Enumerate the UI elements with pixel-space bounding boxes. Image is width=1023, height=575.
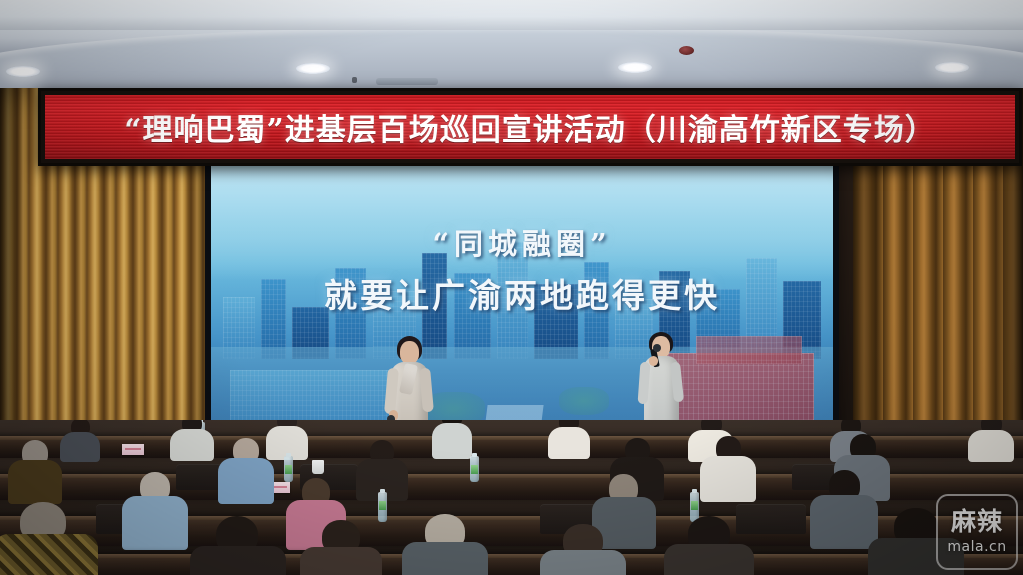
audience-body — [548, 427, 590, 459]
audience-member — [402, 514, 488, 575]
audience-member — [60, 420, 100, 460]
audience-body — [664, 544, 754, 575]
projection-screen-frame: “同城融圈” 就要让广渝两地跑得更快 会议通知001.doc 宣讲材料.pptx… — [205, 158, 839, 445]
audience-body — [402, 542, 488, 575]
audience-body — [122, 496, 188, 550]
audience-member — [0, 502, 98, 575]
audience-body — [432, 423, 472, 459]
led-banner-panel: “理响巴蜀”进基层百场巡回宣讲活动（川渝高竹新区专场） — [45, 95, 1015, 159]
audience-member — [122, 472, 188, 546]
audience-body — [868, 538, 964, 575]
downlight-icon — [935, 62, 969, 73]
ceiling-front-lip — [0, 0, 1023, 30]
banner-title: “理响巴蜀”进基层百场巡回宣讲活动（川渝高竹新区专场） — [124, 105, 936, 149]
downlight-icon — [6, 66, 40, 77]
audience-body — [170, 429, 214, 461]
audience-body — [190, 546, 286, 575]
audience-member — [190, 516, 286, 575]
projection-screen: “同城融圈” 就要让广渝两地跑得更快 会议通知001.doc 宣讲材料.pptx… — [211, 162, 833, 443]
audience-member — [548, 420, 590, 458]
audience-body — [968, 430, 1014, 462]
audience-body — [700, 456, 756, 502]
downlight-icon — [296, 63, 330, 74]
slide-red-building — [696, 336, 802, 364]
audience-member — [432, 420, 472, 458]
audience-body — [300, 547, 382, 575]
audience-member — [664, 516, 754, 575]
screenshot-root: “同城融圈” 就要让广渝两地跑得更快 会议通知001.doc 宣讲材料.pptx… — [0, 0, 1023, 575]
audience-member — [300, 520, 382, 575]
name-card — [122, 444, 144, 455]
audience-body — [60, 432, 100, 462]
audience-body — [218, 458, 274, 504]
audience-body — [8, 460, 62, 504]
presenter-hand — [649, 356, 658, 366]
audience-member — [968, 420, 1014, 460]
audience-body — [0, 534, 98, 575]
audience-member — [540, 524, 626, 575]
downlight-icon — [618, 62, 652, 73]
audience-member — [8, 440, 62, 500]
water-bottle — [378, 492, 387, 522]
presenter-head — [400, 341, 419, 364]
audience-area — [0, 420, 1023, 575]
paper-cup — [312, 460, 324, 474]
microphone-head-icon — [653, 344, 661, 352]
audience-member — [218, 438, 274, 500]
ac-vent — [376, 78, 438, 85]
led-banner: “理响巴蜀”进基层百场巡回宣讲活动（川渝高竹新区专场） — [38, 88, 1022, 166]
slide-green-area — [559, 387, 609, 415]
water-bottle — [470, 456, 479, 482]
audience-body — [540, 550, 626, 575]
audience-member — [700, 436, 756, 498]
smoke-detector-icon — [679, 46, 694, 55]
ceiling — [0, 0, 1023, 95]
sprinkler-icon — [352, 77, 357, 83]
audience-member — [868, 508, 964, 575]
audience-member — [170, 420, 214, 460]
